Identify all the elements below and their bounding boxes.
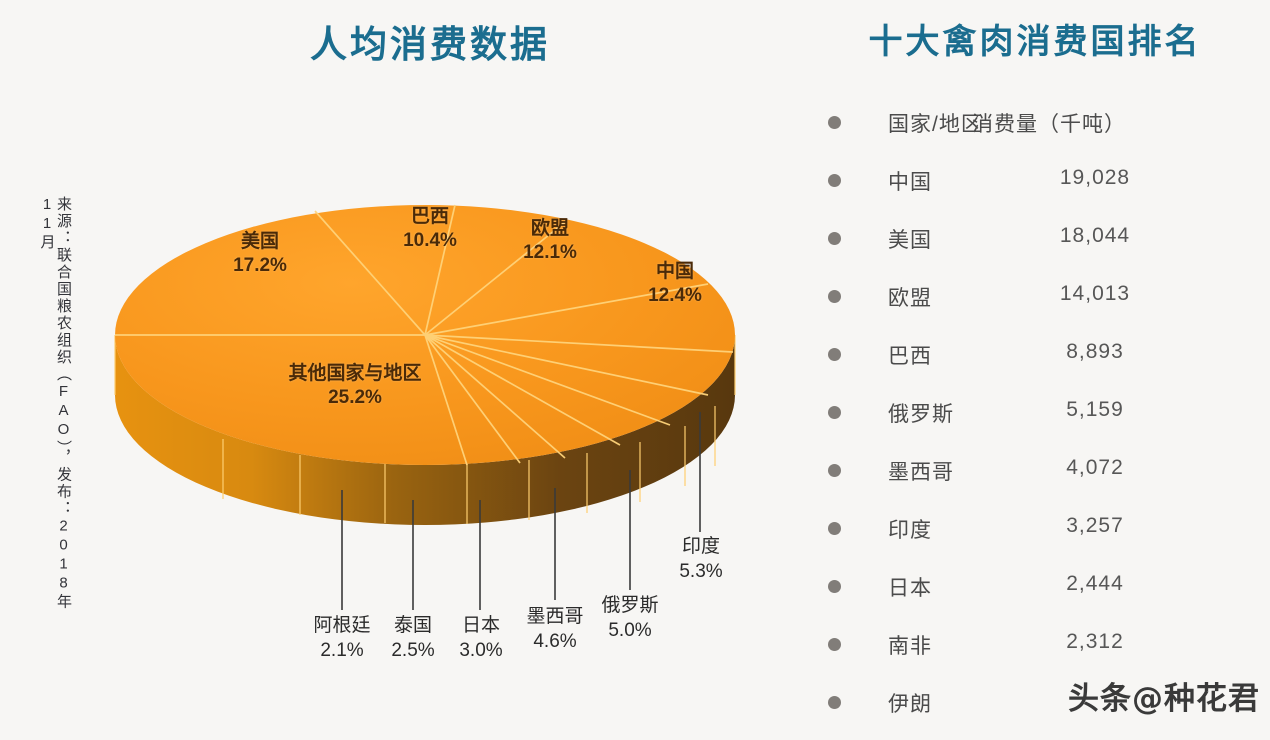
callout-india-pct: 5.3%: [653, 560, 749, 585]
pie-label-eu: 欧盟 12.1%: [490, 217, 610, 266]
row-value: 5,159: [1000, 398, 1190, 422]
bullet-icon: [828, 348, 841, 361]
row-country: 伊朗: [888, 688, 932, 718]
page-title: 人均消费数据: [230, 14, 630, 68]
row-country: 美国: [888, 224, 932, 254]
row-country: 日本: [888, 572, 932, 602]
bullet-icon: [828, 522, 841, 535]
list-item: 南非 2,312: [800, 622, 1270, 680]
bullet-icon: [828, 638, 841, 651]
list-item: 中国 19,028: [800, 158, 1270, 216]
row-country: 欧盟: [888, 282, 932, 312]
row-country: 巴西: [888, 340, 932, 370]
top-ten-ranking-panel: 十大禽肉消费国排名 国家/地区 消费量（千吨） 中国 19,028 美国 18,…: [800, 0, 1270, 740]
watermark: 头条@种花君: [1068, 673, 1260, 718]
pie-label-usa: 美国 17.2%: [200, 230, 320, 279]
list-item: 印度 3,257: [800, 506, 1270, 564]
list-item: 墨西哥 4,072: [800, 448, 1270, 506]
pie-label-usa-name: 美国: [200, 230, 320, 254]
pie-label-china-pct: 12.4%: [615, 284, 735, 308]
pie-label-eu-pct: 12.1%: [490, 241, 610, 265]
pie-label-brazil: 巴西 10.4%: [370, 205, 490, 254]
pie-label-others-name: 其他国家与地区: [250, 362, 460, 386]
pie-label-brazil-pct: 10.4%: [370, 229, 490, 253]
pie-label-china: 中国 12.4%: [615, 260, 735, 309]
row-value: 8,893: [1000, 340, 1190, 364]
callout-russia-name: 俄罗斯: [582, 594, 678, 619]
source-note: 来源：联合国粮农组织（FAO），发布：2018年11月: [38, 196, 71, 616]
pie-label-china-name: 中国: [615, 260, 735, 284]
bullet-icon: [828, 174, 841, 187]
per-capita-consumption-panel: 人均消费数据 来源：联合国粮农组织（FAO），发布：2018年11月: [0, 0, 800, 740]
row-value: 4,072: [1000, 456, 1190, 480]
row-country: 南非: [888, 630, 932, 660]
callout-russia: 俄罗斯 5.0%: [582, 594, 678, 643]
bullet-icon: [828, 232, 841, 245]
row-value: 2,444: [1000, 572, 1190, 596]
row-country: 印度: [888, 514, 932, 544]
list-item: 美国 18,044: [800, 216, 1270, 274]
bullet-icon: [828, 116, 841, 129]
pie-label-others: 其他国家与地区 25.2%: [250, 362, 460, 411]
bullet-icon: [828, 464, 841, 477]
list-item: 巴西 8,893: [800, 332, 1270, 390]
callout-india: 印度 5.3%: [653, 535, 749, 584]
row-country: 俄罗斯: [888, 398, 954, 428]
pie-label-eu-name: 欧盟: [490, 217, 610, 241]
bullet-icon: [828, 290, 841, 303]
list-item: 俄罗斯 5,159: [800, 390, 1270, 448]
bullet-icon: [828, 406, 841, 419]
column-header-country: 国家/地区: [888, 108, 983, 138]
ranking-list: 国家/地区 消费量（千吨） 中国 19,028 美国 18,044 欧盟 14,…: [800, 100, 1270, 738]
column-header-consumption: 消费量（千吨）: [972, 108, 1162, 138]
list-item: 欧盟 14,013: [800, 274, 1270, 332]
row-country: 中国: [888, 166, 932, 196]
ranking-header-row: 国家/地区 消费量（千吨）: [800, 100, 1270, 158]
pie-label-brazil-name: 巴西: [370, 205, 490, 229]
row-value: 14,013: [1000, 282, 1190, 306]
row-value: 3,257: [1000, 514, 1190, 538]
callout-india-name: 印度: [653, 535, 749, 560]
row-value: 19,028: [1000, 166, 1190, 190]
callout-russia-pct: 5.0%: [582, 619, 678, 644]
ranking-title: 十大禽肉消费国排名: [800, 14, 1270, 63]
row-country: 墨西哥: [888, 456, 954, 486]
pie-label-usa-pct: 17.2%: [200, 254, 320, 278]
row-value: 2,312: [1000, 630, 1190, 654]
bullet-icon: [828, 696, 841, 709]
row-value: 18,044: [1000, 224, 1190, 248]
list-item: 日本 2,444: [800, 564, 1270, 622]
bullet-icon: [828, 580, 841, 593]
pie-chart: 美国 17.2% 巴西 10.4% 欧盟 12.1% 中国 12.4% 其他国家…: [95, 180, 795, 540]
pie-label-others-pct: 25.2%: [250, 386, 460, 410]
